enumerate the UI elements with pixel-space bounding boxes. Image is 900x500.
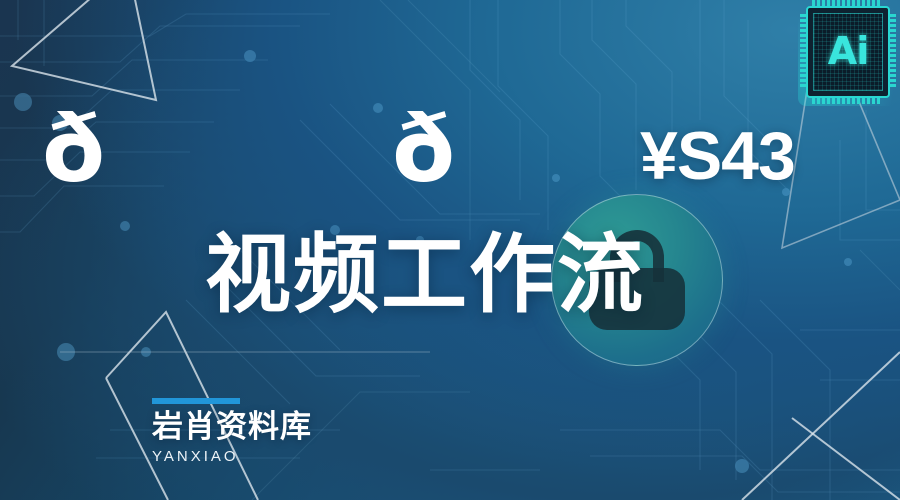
price-text: ¥S43	[640, 122, 795, 190]
chip-pins-top	[812, 0, 880, 6]
decorative-glyph-middle: ð	[392, 104, 455, 196]
chip-pins-right	[890, 14, 896, 87]
banner-canvas: ð ð ¥S43 视频工作流 Ai 岩肖资料库 YANXIAO	[0, 0, 900, 500]
chip-pins-left	[800, 14, 806, 87]
brand-block: 岩肖资料库 YANXIAO	[152, 398, 312, 465]
brand-accent-rule	[152, 398, 240, 404]
brand-name-cn: 岩肖资料库	[152, 410, 312, 444]
chip-pins-bottom	[812, 98, 880, 104]
chip-label: Ai	[828, 32, 868, 70]
ai-chip-icon: Ai	[806, 6, 890, 98]
decorative-glyph-left: ð	[42, 104, 105, 196]
banner-title: 视频工作流	[205, 232, 645, 318]
brand-name-en: YANXIAO	[152, 448, 312, 465]
